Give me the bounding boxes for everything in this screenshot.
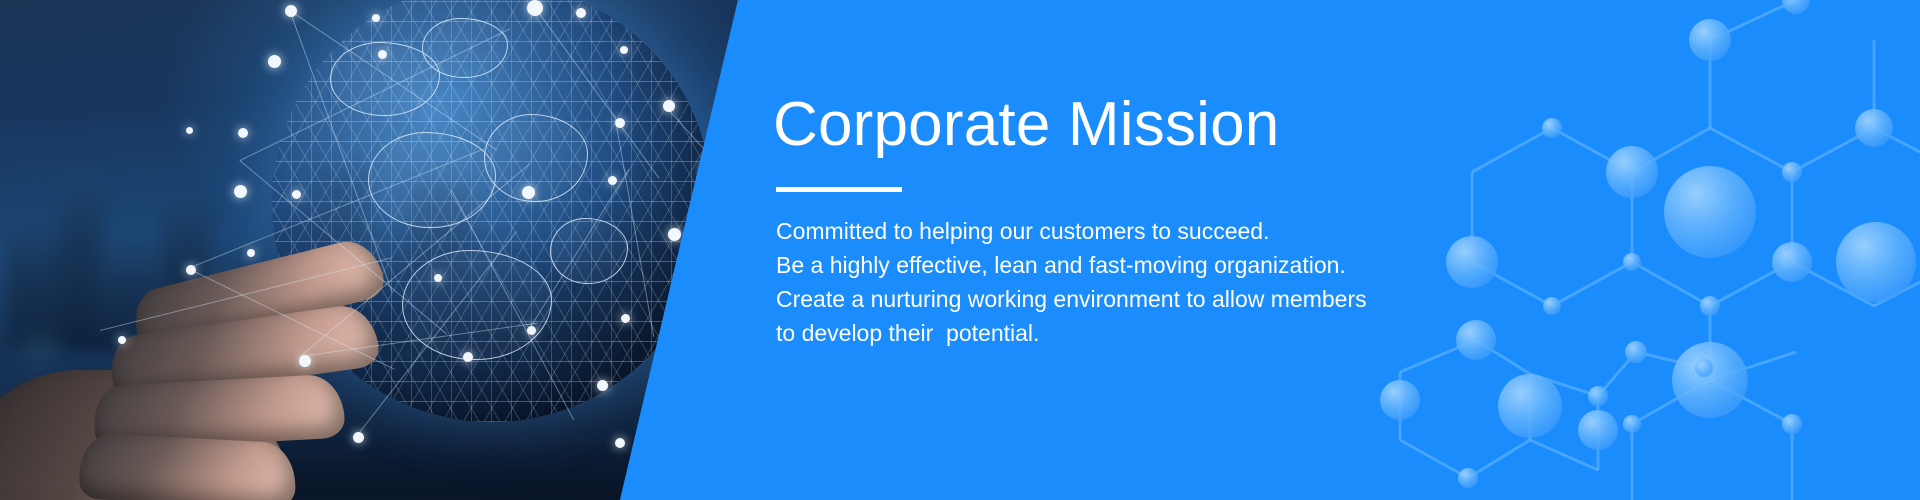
mission-content: Corporate Mission Committed to helping o… bbox=[773, 92, 1593, 352]
corporate-mission-banner: Corporate Mission Committed to helping o… bbox=[0, 0, 1920, 500]
mission-line-3: Create a nurturing working environment t… bbox=[776, 284, 1593, 314]
page-title: Corporate Mission bbox=[773, 92, 1593, 157]
mission-line-1: Committed to helping our customers to su… bbox=[776, 216, 1593, 246]
mission-line-2: Be a highly effective, lean and fast-mov… bbox=[776, 250, 1593, 280]
title-divider bbox=[776, 187, 902, 192]
mission-line-4: to develop their potential. bbox=[776, 318, 1593, 348]
